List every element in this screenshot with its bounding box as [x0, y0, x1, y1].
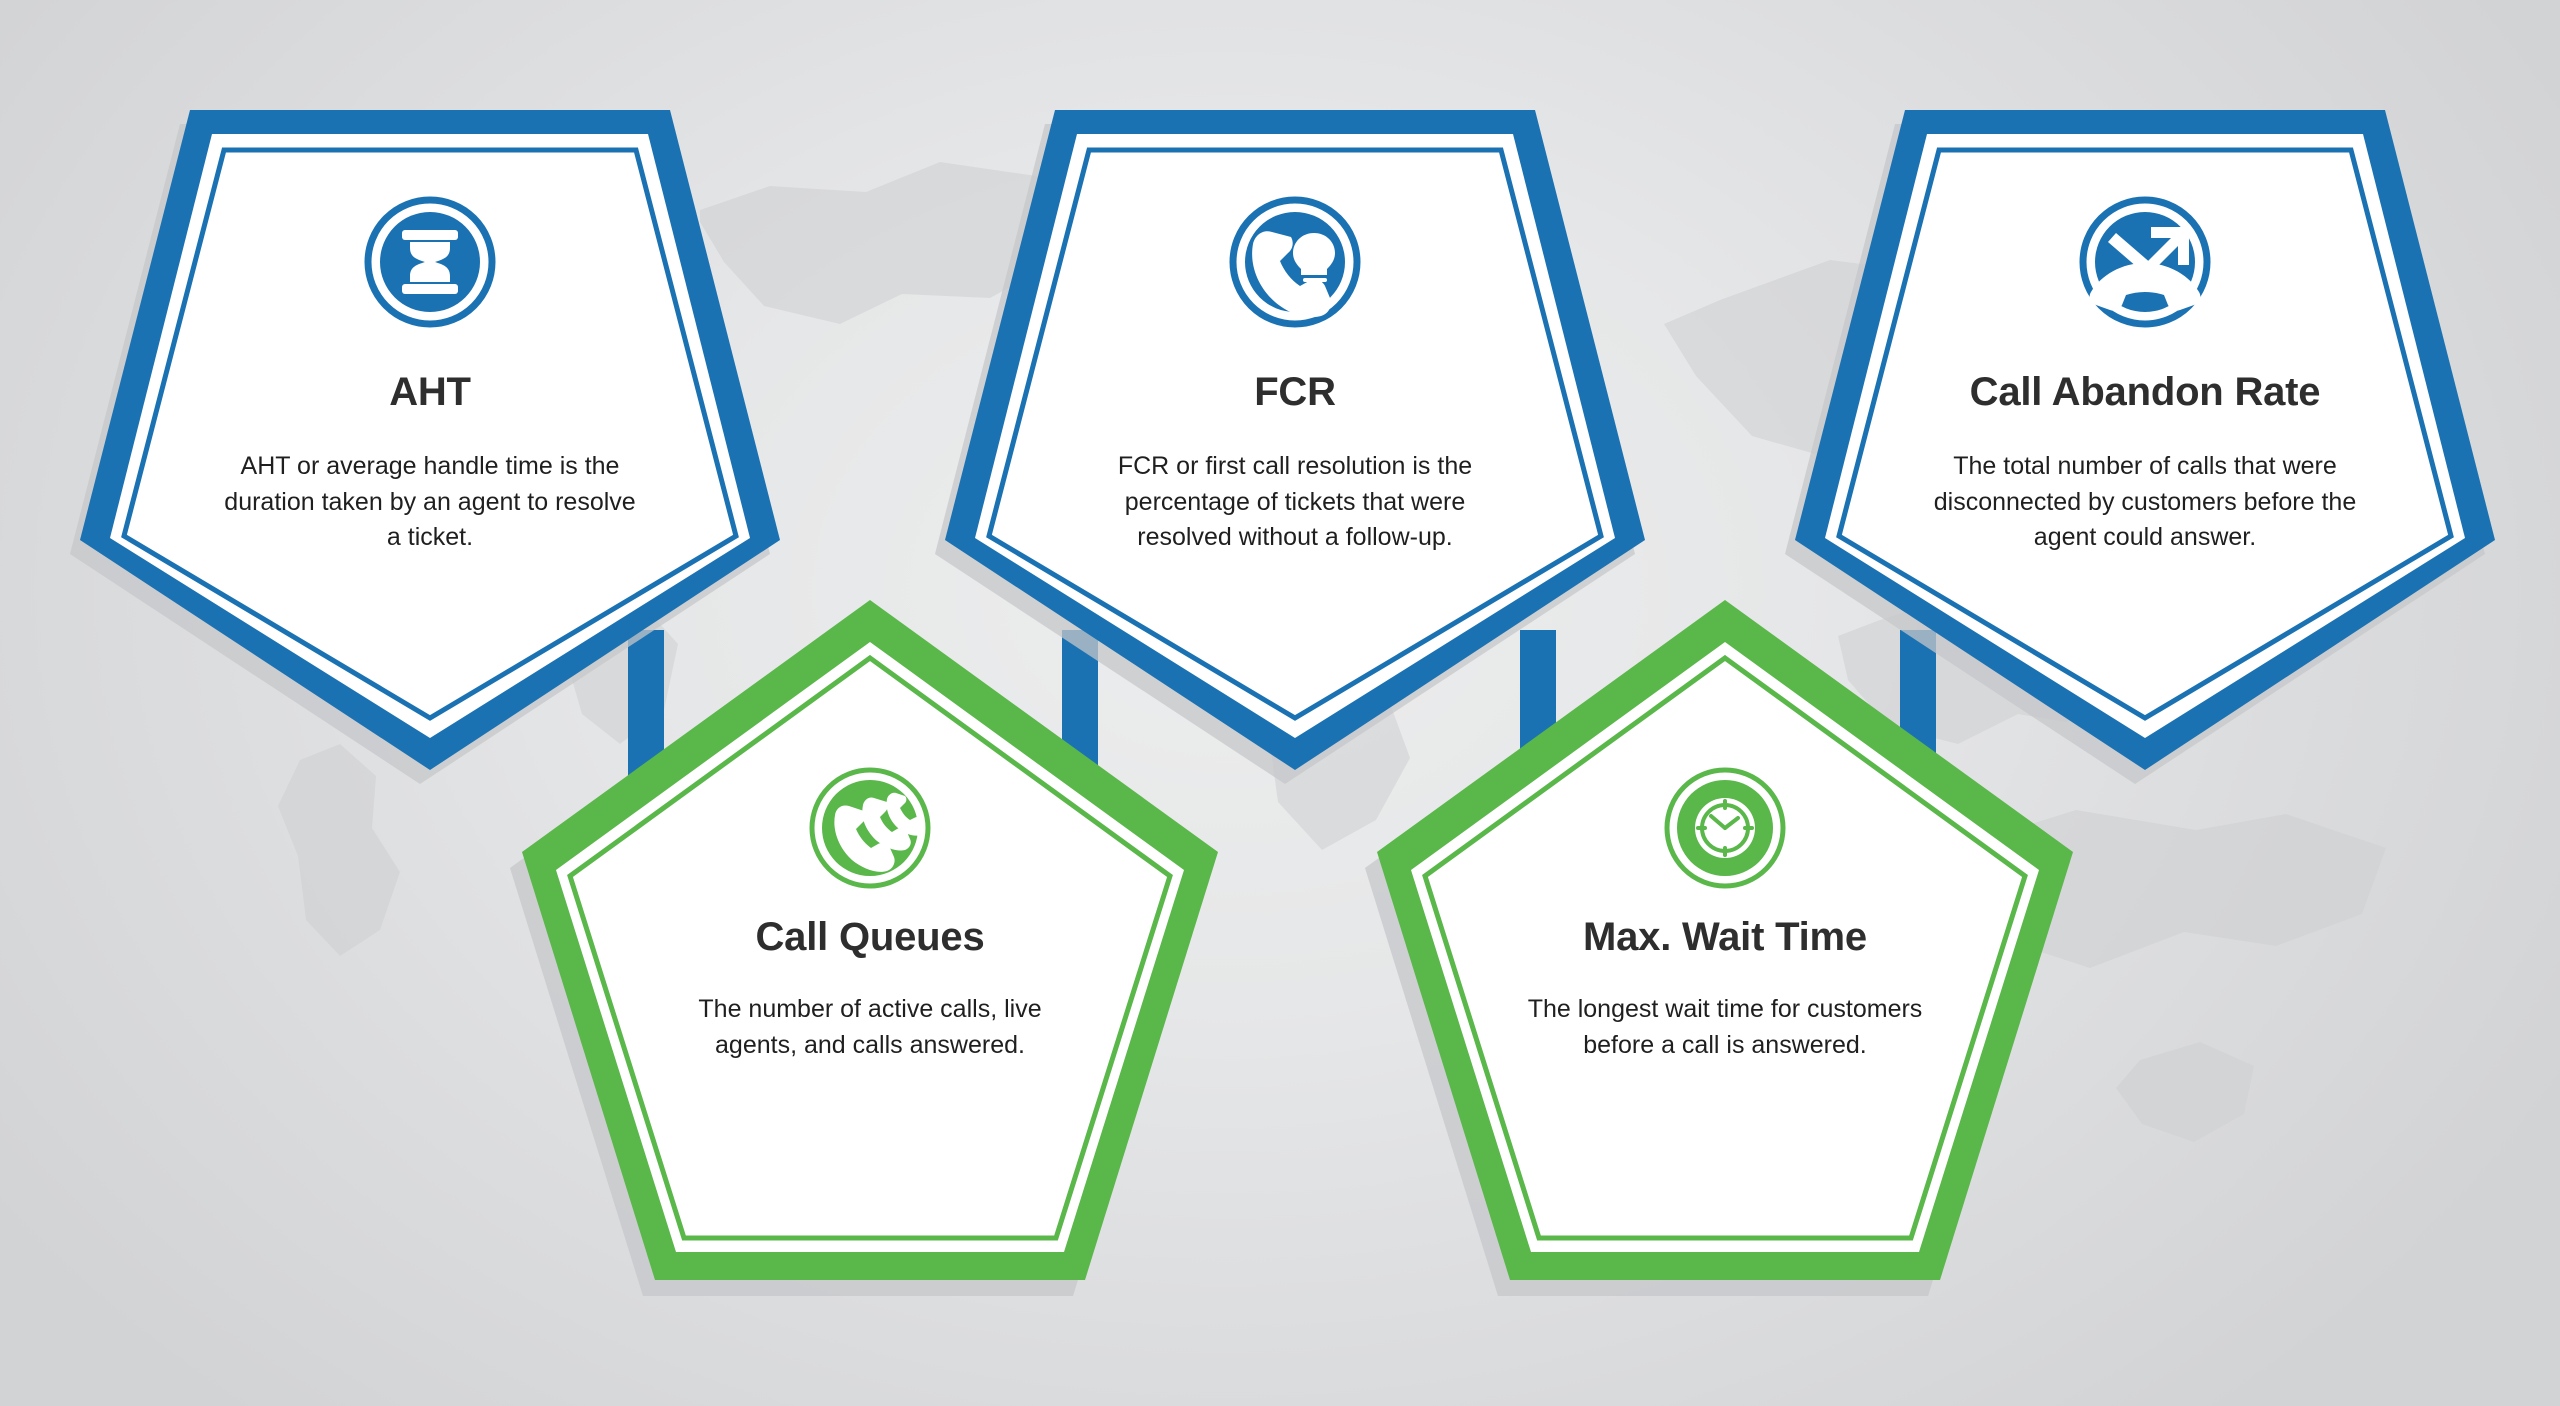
card-max-wait-time[interactable]: Max. Wait Time The longest wait time for…: [1355, 590, 2095, 1310]
missed-call-icon: [2083, 200, 2207, 324]
multiple-phones-icon: [812, 770, 928, 886]
card-call-queues[interactable]: Call Queues The number of active calls, …: [500, 590, 1240, 1310]
pentagon-shape-call-queues: [500, 590, 1240, 1310]
infographic-canvas: AHT AHT or average handle time is the du…: [0, 0, 2560, 1406]
phone-lightbulb-icon: [1233, 200, 1357, 324]
clock-icon: [1667, 770, 1783, 886]
hourglass-icon: [368, 200, 492, 324]
pentagon-shape-max-wait-time: [1355, 590, 2095, 1310]
